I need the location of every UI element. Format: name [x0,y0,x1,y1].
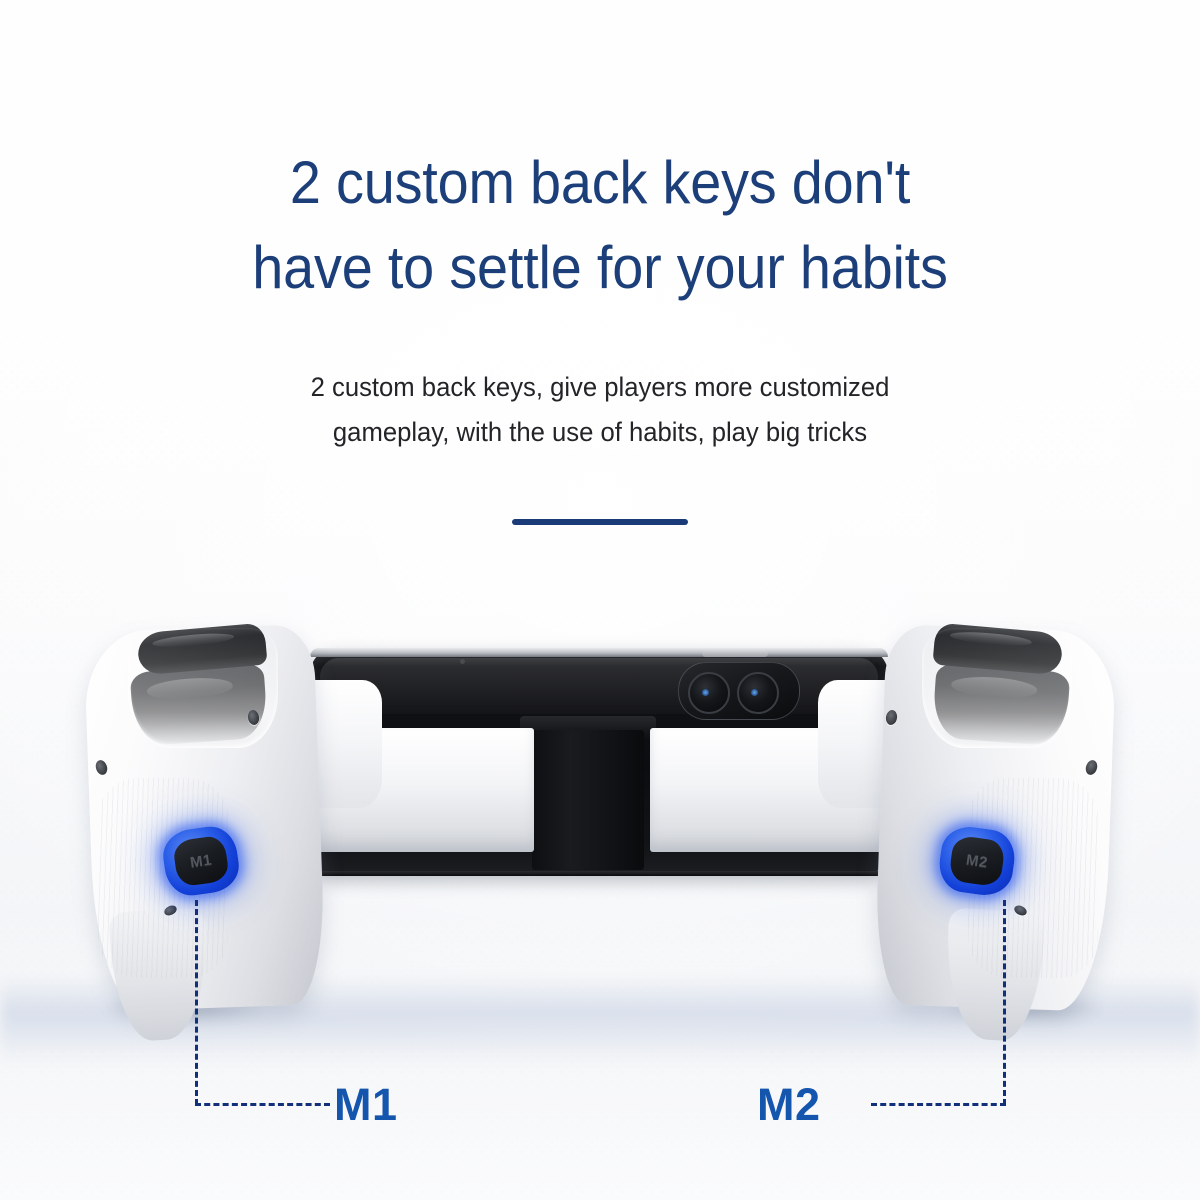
subtitle-line-2: gameplay, with the use of habits, play b… [30,410,1170,455]
callout-label-m1: M1 [334,1082,398,1127]
trigger-r2[interactable] [932,663,1071,746]
trigger-cluster-right [922,628,1072,746]
trigger-sheen [152,631,235,649]
camera-lens-1 [688,672,730,714]
trigger-l2[interactable] [130,663,269,746]
callout-label-m2: M2 [757,1082,821,1127]
callout-line-m2-horizontal [871,1103,1006,1106]
headline-line-1: 2 custom back keys don't [290,149,910,216]
phone-microphone [460,659,465,664]
trigger-sheen [146,676,233,701]
product-feature-banner: 2 custom back keys don't have to settle … [0,0,1200,1200]
camera-lens-2 [737,672,779,714]
subtitle: 2 custom back keys, give players more cu… [30,365,1170,454]
callout-line-m1-horizontal [195,1103,330,1106]
callout-line-m2-vertical [1003,900,1006,1105]
subtitle-line-1: 2 custom back keys, give players more cu… [311,372,890,402]
trigger-sheen [950,630,1033,648]
product-image: M1 M2 [0,620,1200,1040]
headline-line-2: have to settle for your habits [42,225,1158,310]
phone-bottom-rim [312,871,886,876]
trigger-sheen [951,675,1038,700]
callout-line-m1-vertical [195,900,198,1105]
phone-speaker-grille [702,650,768,657]
controller-grip-right: M2 [828,628,1128,1028]
phone-top-rim [310,648,888,657]
headline: 2 custom back keys don't have to settle … [42,140,1158,310]
m1-button-label: M1 [172,835,230,888]
m2-button-label: M2 [948,835,1006,888]
trigger-cluster-left [128,628,278,746]
controller-grip-left: M1 [72,628,372,1028]
phone-camera-module [678,662,800,720]
mount-column [532,730,644,870]
section-divider [512,519,688,525]
